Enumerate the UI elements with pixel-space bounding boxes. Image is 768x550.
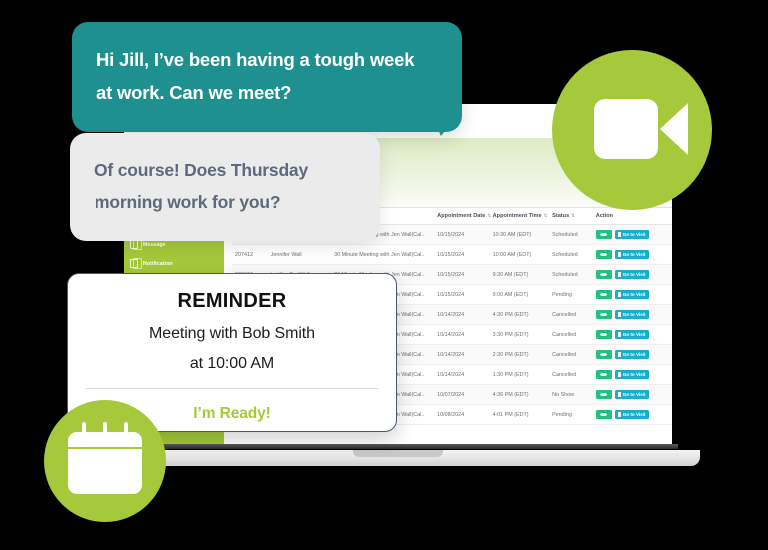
cell-action: Go to Visit xyxy=(593,265,672,285)
go-to-visit-label: Go to Visit xyxy=(623,272,646,277)
cell-appointment-time: 4:01 PM (EDT) xyxy=(490,405,549,425)
copy-icon xyxy=(130,259,138,268)
cell-action: Go to Visit xyxy=(593,245,672,265)
cell-client-name: Jennifer Wall xyxy=(268,245,331,265)
sidebar-item-notification[interactable]: Notification xyxy=(124,254,224,273)
view-button[interactable] xyxy=(596,330,612,339)
calendar-ring-icon xyxy=(103,422,107,434)
action-buttons: Go to Visit xyxy=(596,410,669,419)
sort-icon[interactable]: ⇅ xyxy=(571,213,575,218)
eye-icon xyxy=(600,313,607,317)
action-buttons: Go to Visit xyxy=(596,290,669,299)
cell-action: Go to Visit xyxy=(593,385,672,405)
eye-icon xyxy=(600,273,607,277)
cell-status: Cancelled xyxy=(549,345,593,365)
column-header-appointment-time[interactable]: Appointment Time⇅ xyxy=(490,208,549,225)
visit-icon xyxy=(618,252,622,257)
eye-icon xyxy=(600,413,607,417)
cell-appointment-date: 10/14/2024 xyxy=(434,325,489,345)
column-label: Action xyxy=(596,213,613,219)
go-to-visit-button[interactable]: Go to Visit xyxy=(615,230,649,239)
go-to-visit-label: Go to Visit xyxy=(623,252,646,257)
action-buttons: Go to Visit xyxy=(596,370,669,379)
visit-icon xyxy=(618,392,622,397)
chat-reply-line-1: Of course! Does Thursday xyxy=(94,155,356,187)
video-camera-icon xyxy=(594,99,658,159)
cell-status: Scheduled xyxy=(549,265,593,285)
calendar-separator-icon xyxy=(68,447,142,449)
column-label: Appointment Time xyxy=(493,213,542,219)
action-buttons: Go to Visit xyxy=(596,330,669,339)
cell-action: Go to Visit xyxy=(593,345,672,365)
go-to-visit-label: Go to Visit xyxy=(623,232,646,237)
cell-appointment-time: 3:30 PM (EDT) xyxy=(490,325,549,345)
calendar-badge[interactable] xyxy=(44,400,166,522)
go-to-visit-label: Go to Visit xyxy=(623,392,646,397)
cell-status: Pending xyxy=(549,285,593,305)
reminder-time: at 10:00 AM xyxy=(86,355,378,373)
eye-icon xyxy=(600,373,607,377)
cell-status: No Show xyxy=(549,385,593,405)
action-buttons: Go to Visit xyxy=(596,270,669,279)
cell-id: 207412 xyxy=(232,245,268,265)
go-to-visit-label: Go to Visit xyxy=(623,412,646,417)
go-to-visit-button[interactable]: Go to Visit xyxy=(615,410,649,419)
visit-icon xyxy=(618,372,622,377)
view-button[interactable] xyxy=(596,230,612,239)
cell-action: Go to Visit xyxy=(593,305,672,325)
eye-icon xyxy=(600,393,607,397)
cell-action: Go to Visit xyxy=(593,225,672,245)
chat-bubble-reply: Of course! Does Thursday morning work fo… xyxy=(70,133,380,241)
go-to-visit-button[interactable]: Go to Visit xyxy=(615,350,649,359)
action-buttons: Go to Visit xyxy=(596,390,669,399)
view-button[interactable] xyxy=(596,370,612,379)
view-button[interactable] xyxy=(596,290,612,299)
table-row[interactable]: 207412Jennifer Wall30 Minute Meeting wit… xyxy=(232,245,672,265)
visit-icon xyxy=(618,412,622,417)
go-to-visit-label: Go to Visit xyxy=(623,352,646,357)
eye-icon xyxy=(600,253,607,257)
column-header-appointment-date[interactable]: Appointment Date⇅ xyxy=(434,208,489,225)
cell-status: Scheduled xyxy=(549,225,593,245)
video-camera-lens-icon xyxy=(660,103,688,155)
column-header-status[interactable]: Status⇅ xyxy=(549,208,593,225)
laptop-hinge xyxy=(118,444,678,449)
view-button[interactable] xyxy=(596,390,612,399)
chat-incoming-line-1: Hi Jill, I’ve been having a tough week xyxy=(96,44,438,77)
visit-icon xyxy=(618,272,622,277)
cell-appointment-time: 9:30 AM (EDT) xyxy=(490,265,549,285)
action-buttons: Go to Visit xyxy=(596,310,669,319)
cell-action: Go to Visit xyxy=(593,405,672,425)
cell-appointment-time: 4:36 PM (EDT) xyxy=(490,385,549,405)
go-to-visit-button[interactable]: Go to Visit xyxy=(615,270,649,279)
visit-icon xyxy=(618,312,622,317)
visit-icon xyxy=(618,352,622,357)
cell-appointment-time: 4:30 PM (EDT) xyxy=(490,305,549,325)
cell-appointment-time: 10:30 AM (EDT) xyxy=(490,225,549,245)
cell-appointment-time: 10:00 AM (EDT) xyxy=(490,245,549,265)
cell-status: Cancelled xyxy=(549,305,593,325)
action-buttons: Go to Visit xyxy=(596,350,669,359)
go-to-visit-button[interactable]: Go to Visit xyxy=(615,370,649,379)
go-to-visit-label: Go to Visit xyxy=(623,332,646,337)
eye-icon xyxy=(600,353,607,357)
view-button[interactable] xyxy=(596,250,612,259)
column-label: Appointment Date xyxy=(437,213,485,219)
view-button[interactable] xyxy=(596,310,612,319)
visit-icon xyxy=(618,232,622,237)
cell-status: Cancelled xyxy=(549,325,593,345)
eye-icon xyxy=(600,233,607,237)
column-label: Status xyxy=(552,213,569,219)
calendar-ring-icon xyxy=(82,422,86,434)
go-to-visit-button[interactable]: Go to Visit xyxy=(615,390,649,399)
screenshot-stage: IMSK Group Management xyxy=(0,0,768,550)
cell-action: Go to Visit xyxy=(593,325,672,345)
video-camera-badge[interactable] xyxy=(552,50,712,210)
go-to-visit-button[interactable]: Go to Visit xyxy=(615,250,649,259)
cell-appointment-date: 10/14/2024 xyxy=(434,305,489,325)
cell-appointment-time: 2:30 PM (EDT) xyxy=(490,345,549,365)
go-to-visit-button[interactable]: Go to Visit xyxy=(615,330,649,339)
cell-appointment-date: 10/14/2024 xyxy=(434,365,489,385)
cell-status: Pending xyxy=(549,405,593,425)
visit-icon xyxy=(618,292,622,297)
visit-icon xyxy=(618,332,622,337)
view-button[interactable] xyxy=(596,270,612,279)
reminder-title: REMINDER xyxy=(86,290,378,313)
reminder-divider xyxy=(86,388,378,389)
sidebar-item-label: Message xyxy=(143,242,166,248)
sidebar-item-label: Notification xyxy=(143,261,173,267)
chat-bubble-incoming: Hi Jill, I’ve been having a tough week a… xyxy=(72,22,462,132)
chat-incoming-line-2: at work. Can we meet? xyxy=(96,77,438,110)
cell-appointment-time: 1:30 PM (EDT) xyxy=(490,365,549,385)
chat-reply-line-2: morning work for you? xyxy=(94,187,356,219)
cell-appointment-date: 10/08/2024 xyxy=(434,405,489,425)
action-buttons: Go to Visit xyxy=(596,250,669,259)
eye-icon xyxy=(600,333,607,337)
copy-icon xyxy=(130,240,138,249)
reminder-subject: Meeting with Bob Smith xyxy=(86,325,378,343)
cell-appointment-date: 10/14/2024 xyxy=(434,345,489,365)
view-button[interactable] xyxy=(596,410,612,419)
cell-appointment-date: 10/15/2024 xyxy=(434,245,489,265)
go-to-visit-label: Go to Visit xyxy=(623,292,646,297)
cell-appointment-date: 10/07/2024 xyxy=(434,385,489,405)
cell-action: Go to Visit xyxy=(593,285,672,305)
view-button[interactable] xyxy=(596,350,612,359)
sort-icon[interactable]: ⇅ xyxy=(544,213,548,218)
laptop-base-notch xyxy=(353,450,443,457)
cell-appointment-date: 10/15/2024 xyxy=(434,225,489,245)
cell-appointment-date: 10/15/2024 xyxy=(434,285,489,305)
eye-icon xyxy=(600,293,607,297)
calendar-header-icon xyxy=(68,432,142,447)
go-to-visit-label: Go to Visit xyxy=(623,312,646,317)
go-to-visit-button[interactable]: Go to Visit xyxy=(615,290,649,299)
cell-status: Cancelled xyxy=(549,365,593,385)
cell-appointment-date: 10/15/2024 xyxy=(434,265,489,285)
calendar-ring-icon xyxy=(124,422,128,434)
action-buttons: Go to Visit xyxy=(596,230,669,239)
cell-status: Scheduled xyxy=(549,245,593,265)
cell-action: Go to Visit xyxy=(593,365,672,385)
cell-appointment-time: 9:00 AM (EDT) xyxy=(490,285,549,305)
go-to-visit-label: Go to Visit xyxy=(623,372,646,377)
cell-meeting: 30 Minute Meeting with Jen Wall(Cal.. xyxy=(331,245,434,265)
column-header-action: Action xyxy=(593,208,672,225)
go-to-visit-button[interactable]: Go to Visit xyxy=(615,310,649,319)
